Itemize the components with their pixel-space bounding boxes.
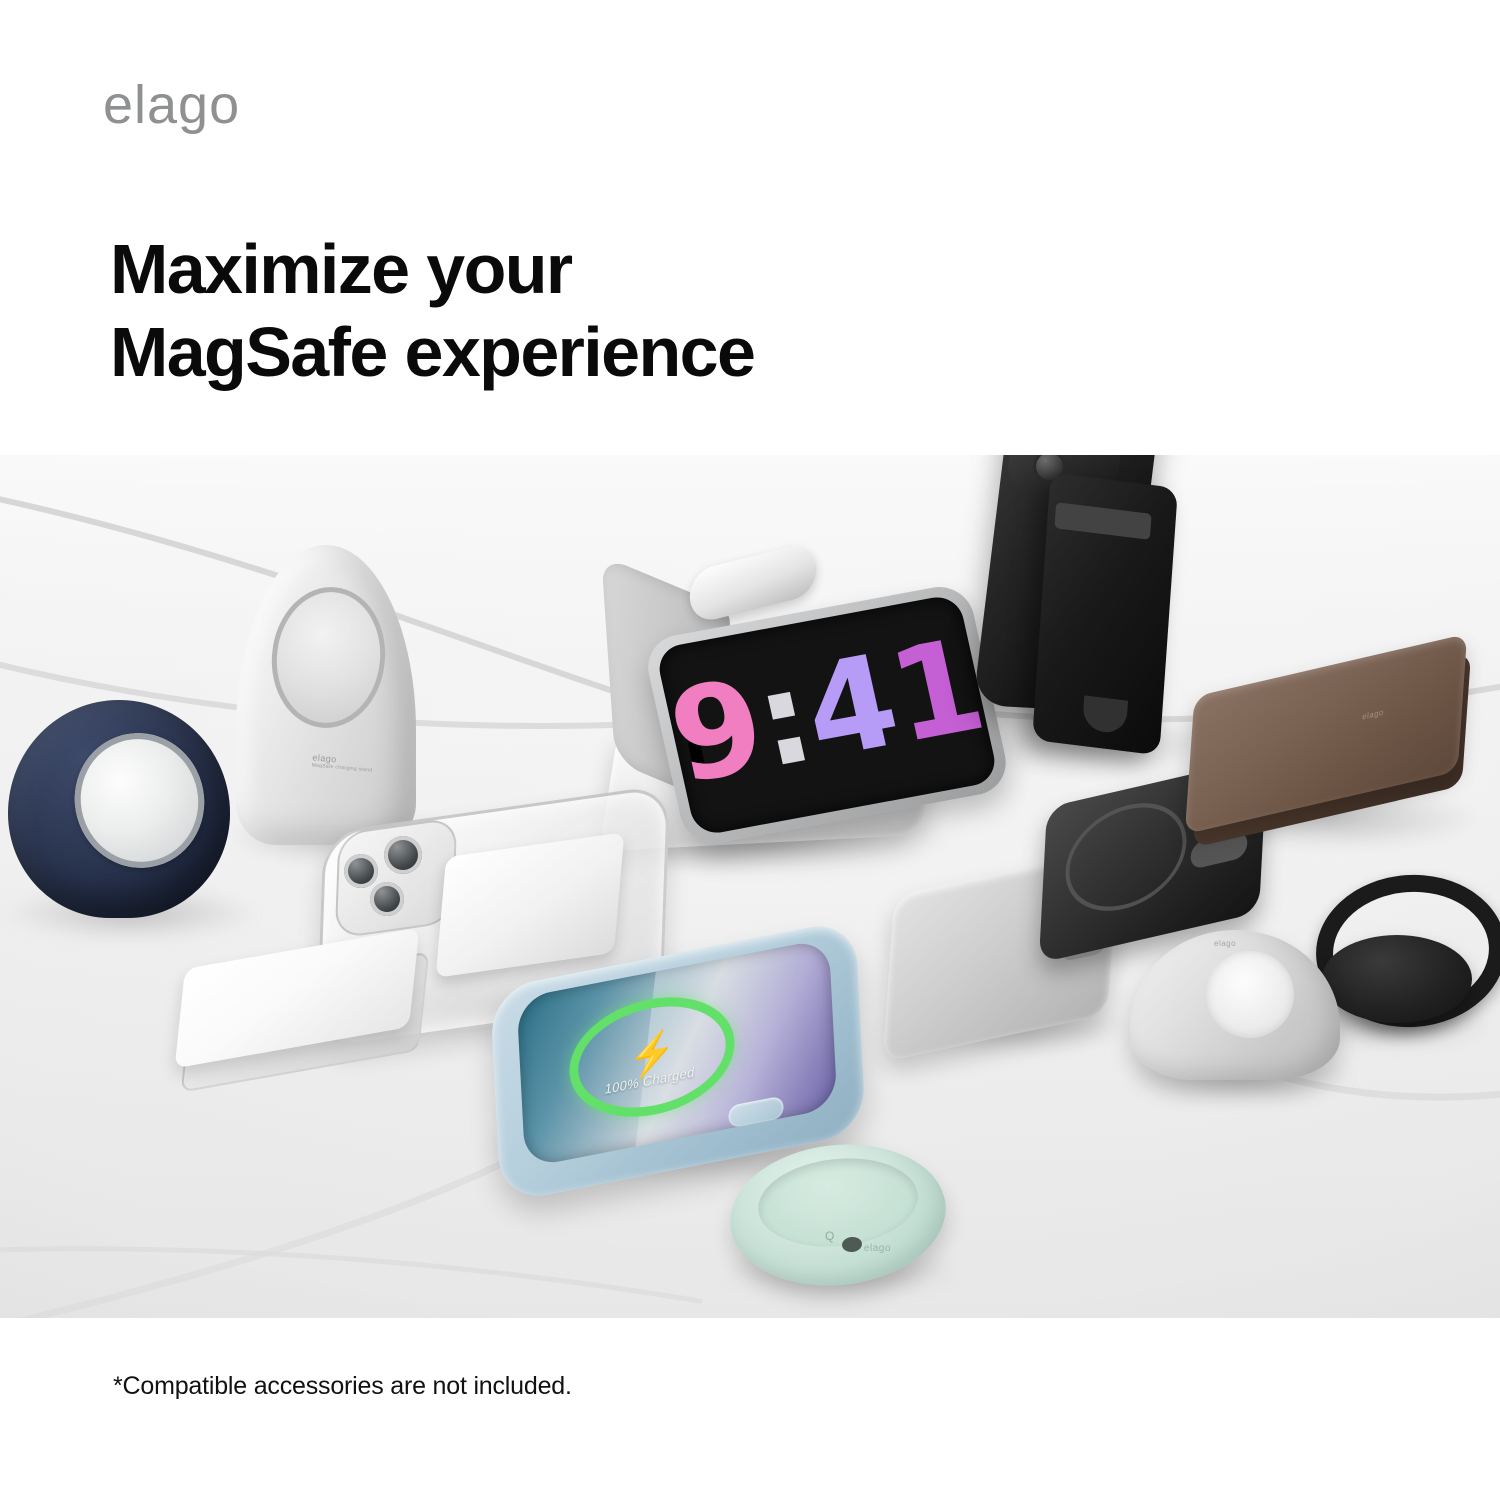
disclaimer-text: *Compatible accessories are not included… xyxy=(113,1372,572,1401)
photo-vignette xyxy=(0,455,1500,1318)
marketing-banner: elago Maximize your MagSafe experience xyxy=(0,0,1500,1500)
product-photo: elago MagSafe charging stand 9:41 xyxy=(0,455,1500,1318)
elago-logo: elago xyxy=(103,78,240,132)
headline-line-1: Maximize your xyxy=(110,230,572,308)
page-title: Maximize your MagSafe experience xyxy=(110,228,1110,395)
headline-line-2: MagSafe experience xyxy=(110,311,1110,394)
